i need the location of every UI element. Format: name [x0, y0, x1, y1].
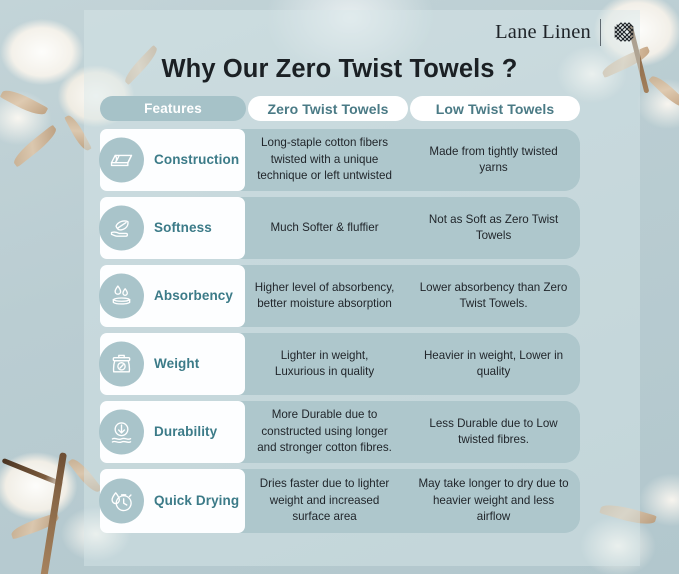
hand-feather-icon	[99, 206, 144, 251]
low-twist-value: May take longer to dry due to heavier we…	[407, 469, 580, 533]
low-twist-value: Lower absorbency than Zero Twist Towels.	[407, 265, 580, 327]
feature-label-cell: Construction	[100, 129, 245, 191]
feature-label-cell: Quick Drying	[100, 469, 245, 533]
header-low-twist: Low Twist Towels	[410, 96, 580, 121]
zero-twist-value: Dries faster due to lighter weight and i…	[245, 469, 404, 533]
woven-weave-icon	[610, 18, 638, 46]
arrow-down-strength-icon	[99, 410, 144, 455]
feature-label-cell: Durability	[100, 401, 245, 463]
feature-label: Softness	[154, 221, 212, 236]
feature-label-cell: Softness	[100, 197, 245, 259]
water-droplets-absorb-icon	[99, 274, 144, 319]
low-twist-value: Less Durable due to Low twisted fibres.	[407, 401, 580, 463]
cotton-branch-stem	[40, 452, 67, 574]
low-twist-value: Made from tightly twisted yarns	[407, 129, 580, 191]
zero-twist-value: Lighter in weight, Luxurious in quality	[245, 333, 404, 395]
feature-label: Construction	[154, 153, 239, 168]
table-row: Softness Much Softer & fluffier Not as S…	[100, 197, 580, 259]
zero-twist-value: More Durable due to constructed using lo…	[245, 401, 404, 463]
low-twist-value: Not as Soft as Zero Twist Towels	[407, 197, 580, 259]
table-header-row: Features Zero Twist Towels Low Twist Tow…	[100, 96, 580, 121]
header-features: Features	[100, 96, 246, 121]
table-row: Absorbency Higher level of absorbency, b…	[100, 265, 580, 327]
feature-label-cell: Absorbency	[100, 265, 245, 327]
table-row: Weight Lighter in weight, Luxurious in q…	[100, 333, 580, 395]
table-row: Quick Drying Dries faster due to lighter…	[100, 469, 580, 533]
page-title: Why Our Zero Twist Towels ?	[0, 55, 679, 84]
feature-label-cell: Weight	[100, 333, 245, 395]
table-row: Durability More Durable due to construct…	[100, 401, 580, 463]
brand-divider	[600, 19, 601, 46]
brand-name: Lane Linen	[495, 21, 591, 44]
cotton-husk	[0, 85, 48, 119]
weighing-scale-icon	[99, 342, 144, 387]
folded-towel-icon	[99, 138, 144, 183]
infographic-canvas: Lane Linen Why Our Zero Twist Towels	[0, 0, 679, 574]
feature-label: Weight	[154, 357, 199, 372]
brand-logo: Lane Linen	[495, 18, 638, 46]
low-twist-value: Heavier in weight, Lower in quality	[407, 333, 580, 395]
table-row: Construction Long-staple cotton fibers t…	[100, 129, 580, 191]
feature-label: Absorbency	[154, 289, 233, 304]
stopwatch-droplet-icon	[99, 479, 144, 524]
feature-label: Durability	[154, 425, 217, 440]
comparison-table: Features Zero Twist Towels Low Twist Tow…	[100, 96, 580, 539]
zero-twist-value: Long-staple cotton fibers twisted with a…	[245, 129, 404, 191]
header-zero-twist: Zero Twist Towels	[248, 96, 408, 121]
cotton-branch-stem	[1, 458, 64, 487]
zero-twist-value: Higher level of absorbency, better moist…	[245, 265, 404, 327]
zero-twist-value: Much Softer & fluffier	[245, 197, 404, 259]
feature-label: Quick Drying	[154, 494, 239, 509]
cotton-husk	[10, 125, 60, 168]
